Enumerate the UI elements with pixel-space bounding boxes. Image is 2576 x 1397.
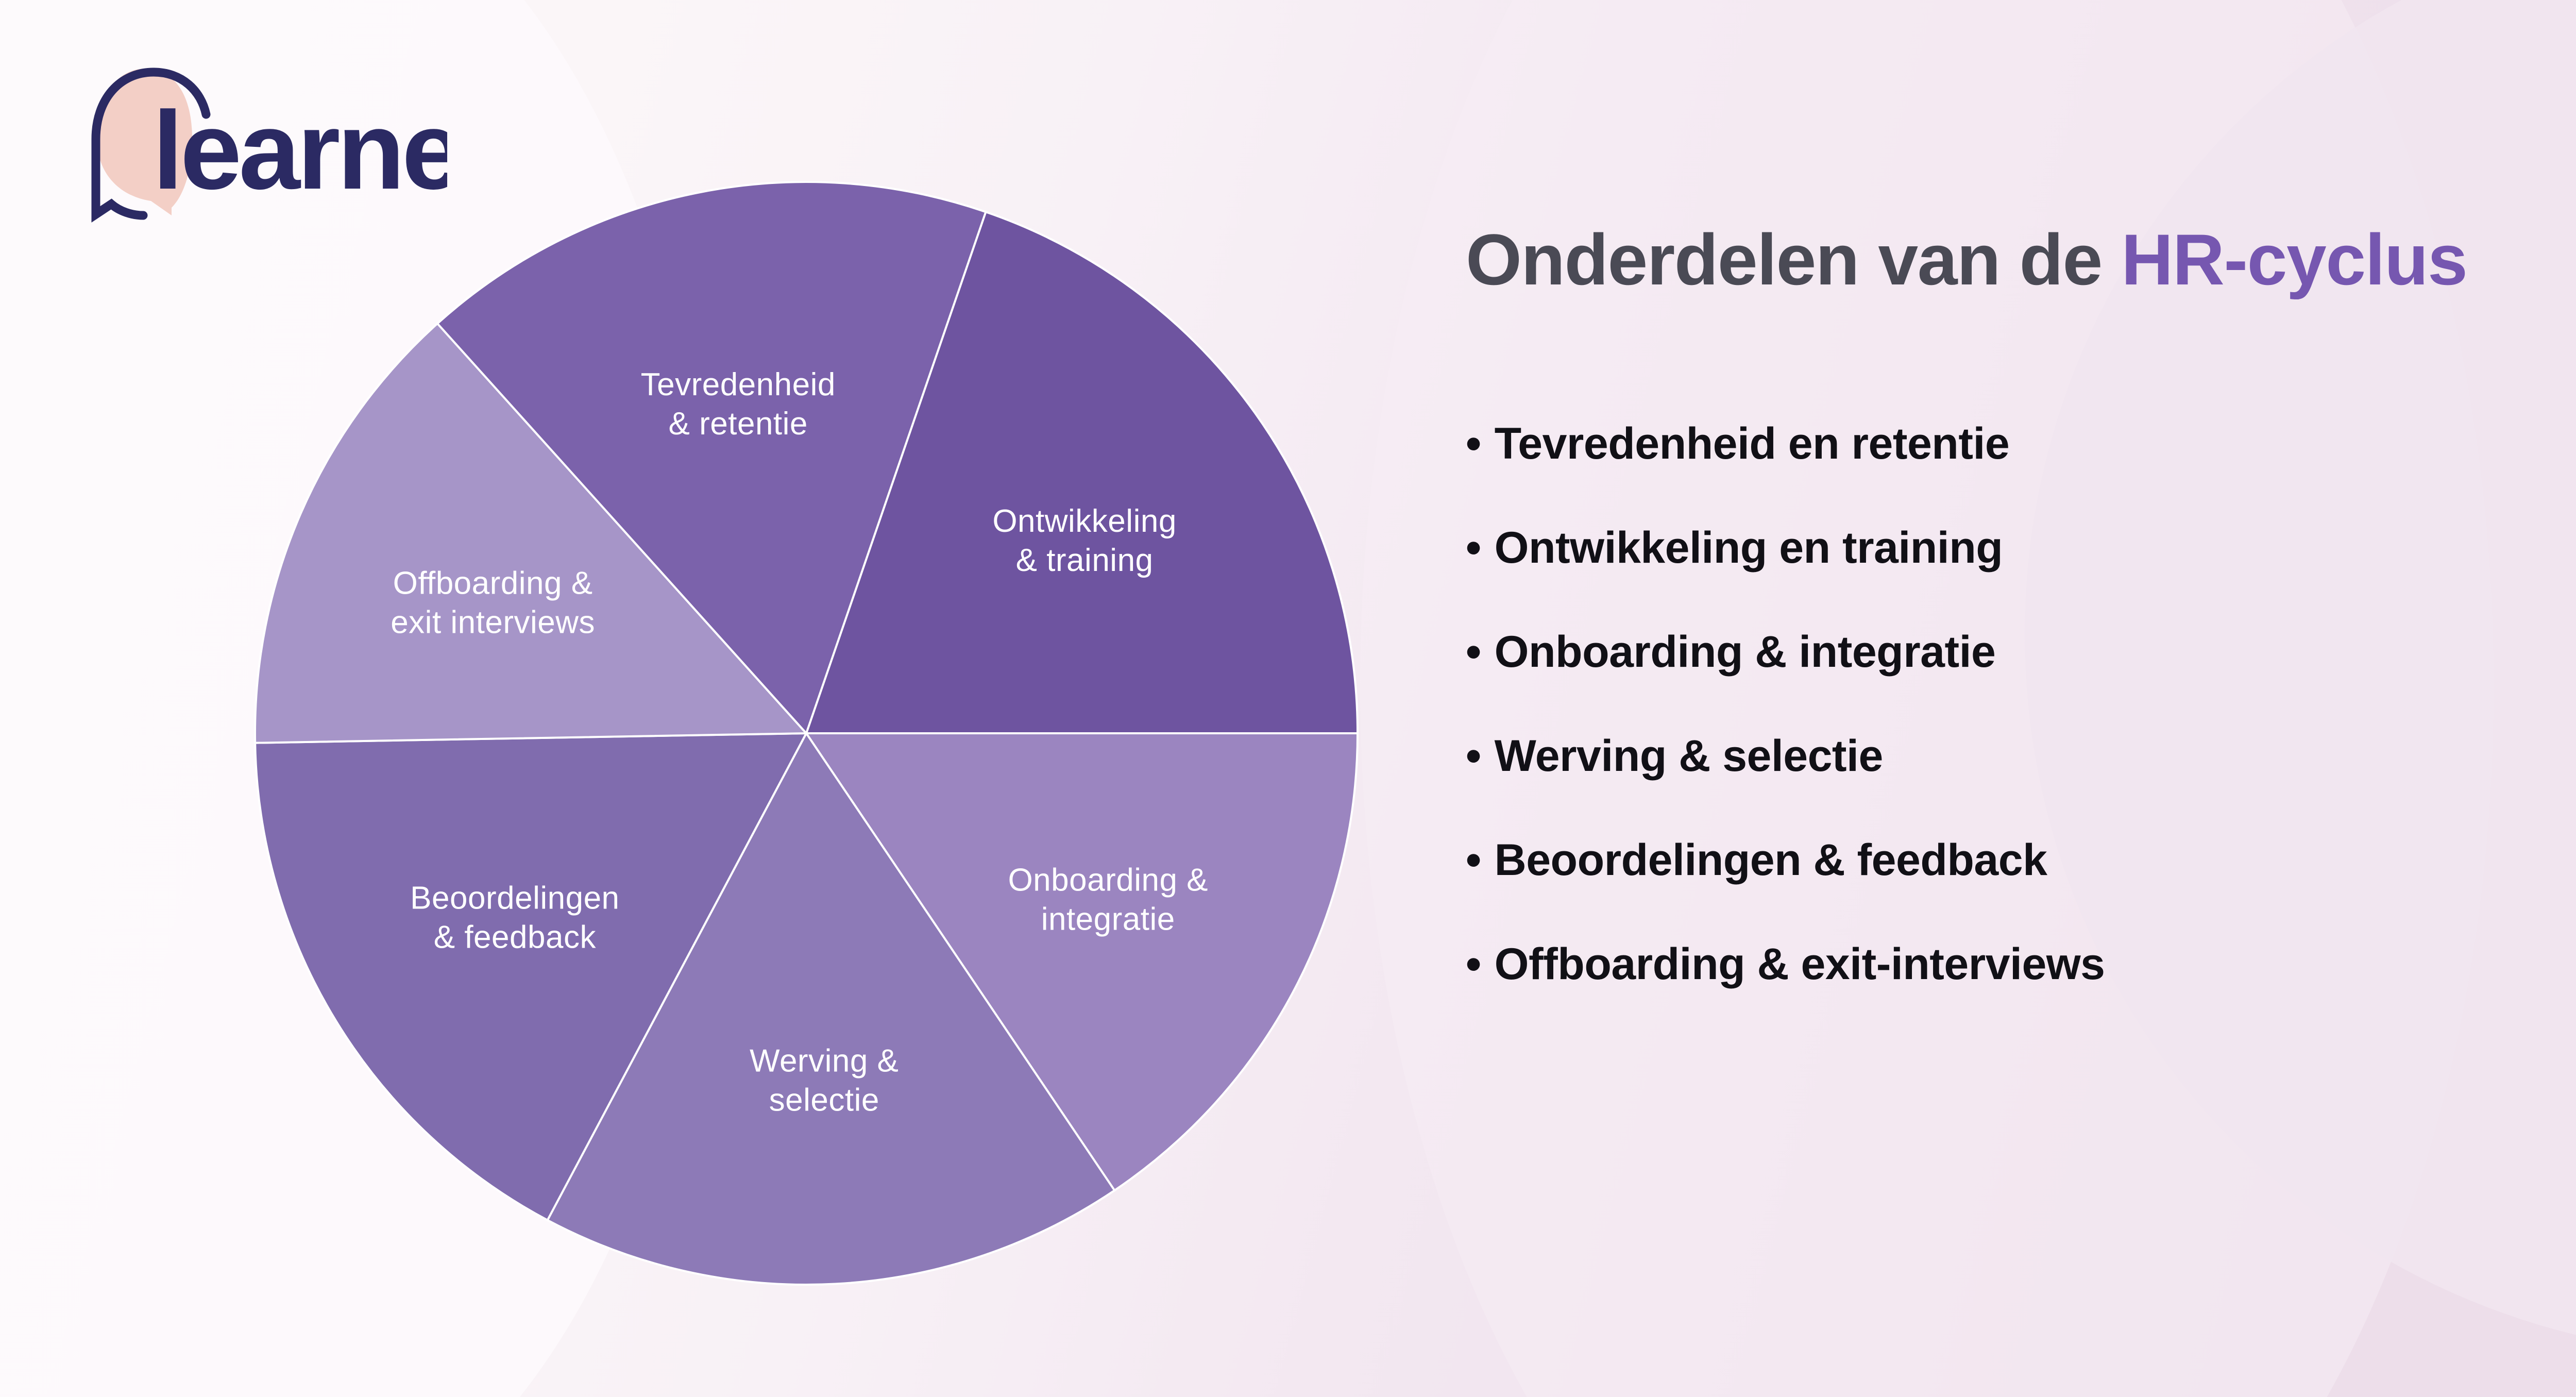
page-title-accent: HR-cyclus	[2121, 219, 2467, 300]
bullet-dot-icon: •	[1466, 734, 1481, 778]
bullet-dot-icon: •	[1466, 630, 1481, 674]
page-title: Onderdelen van de HR-cyclus	[1466, 222, 2576, 297]
page-title-primary: Onderdelen van de	[1466, 219, 2121, 300]
list-item-label: Tevredenheid en retentie	[1495, 418, 2010, 469]
bullet-dot-icon: •	[1466, 422, 1481, 466]
hr-cycle-pie-chart: Ontwikkeling& trainingOnboarding &integr…	[255, 182, 1358, 1285]
list-item: •Onboarding & integratie	[1466, 627, 2576, 678]
list-item: •Tevredenheid en retentie	[1466, 418, 2576, 469]
content-column: Onderdelen van de HR-cyclus •Tevredenhei…	[1466, 222, 2576, 1043]
bullet-dot-icon: •	[1466, 526, 1481, 570]
list-item: •Werving & selectie	[1466, 731, 2576, 782]
list-item-label: Onboarding & integratie	[1495, 627, 1996, 678]
list-item: •Beoordelingen & feedback	[1466, 835, 2576, 886]
slide-canvas: learned Ontwikkeling& trainingOnboarding…	[0, 0, 2576, 1397]
list-item: •Offboarding & exit-interviews	[1466, 939, 2576, 990]
list-item-label: Beoordelingen & feedback	[1495, 835, 2047, 886]
bullet-dot-icon: •	[1466, 942, 1481, 986]
list-item-label: Offboarding & exit-interviews	[1495, 939, 2105, 990]
bullet-dot-icon: •	[1466, 838, 1481, 882]
list-item-label: Ontwikkeling en training	[1495, 523, 2003, 574]
list-item-label: Werving & selectie	[1495, 731, 1883, 782]
list-item: •Ontwikkeling en training	[1466, 523, 2576, 574]
hr-cycle-bullet-list: •Tevredenheid en retentie•Ontwikkeling e…	[1466, 418, 2576, 990]
